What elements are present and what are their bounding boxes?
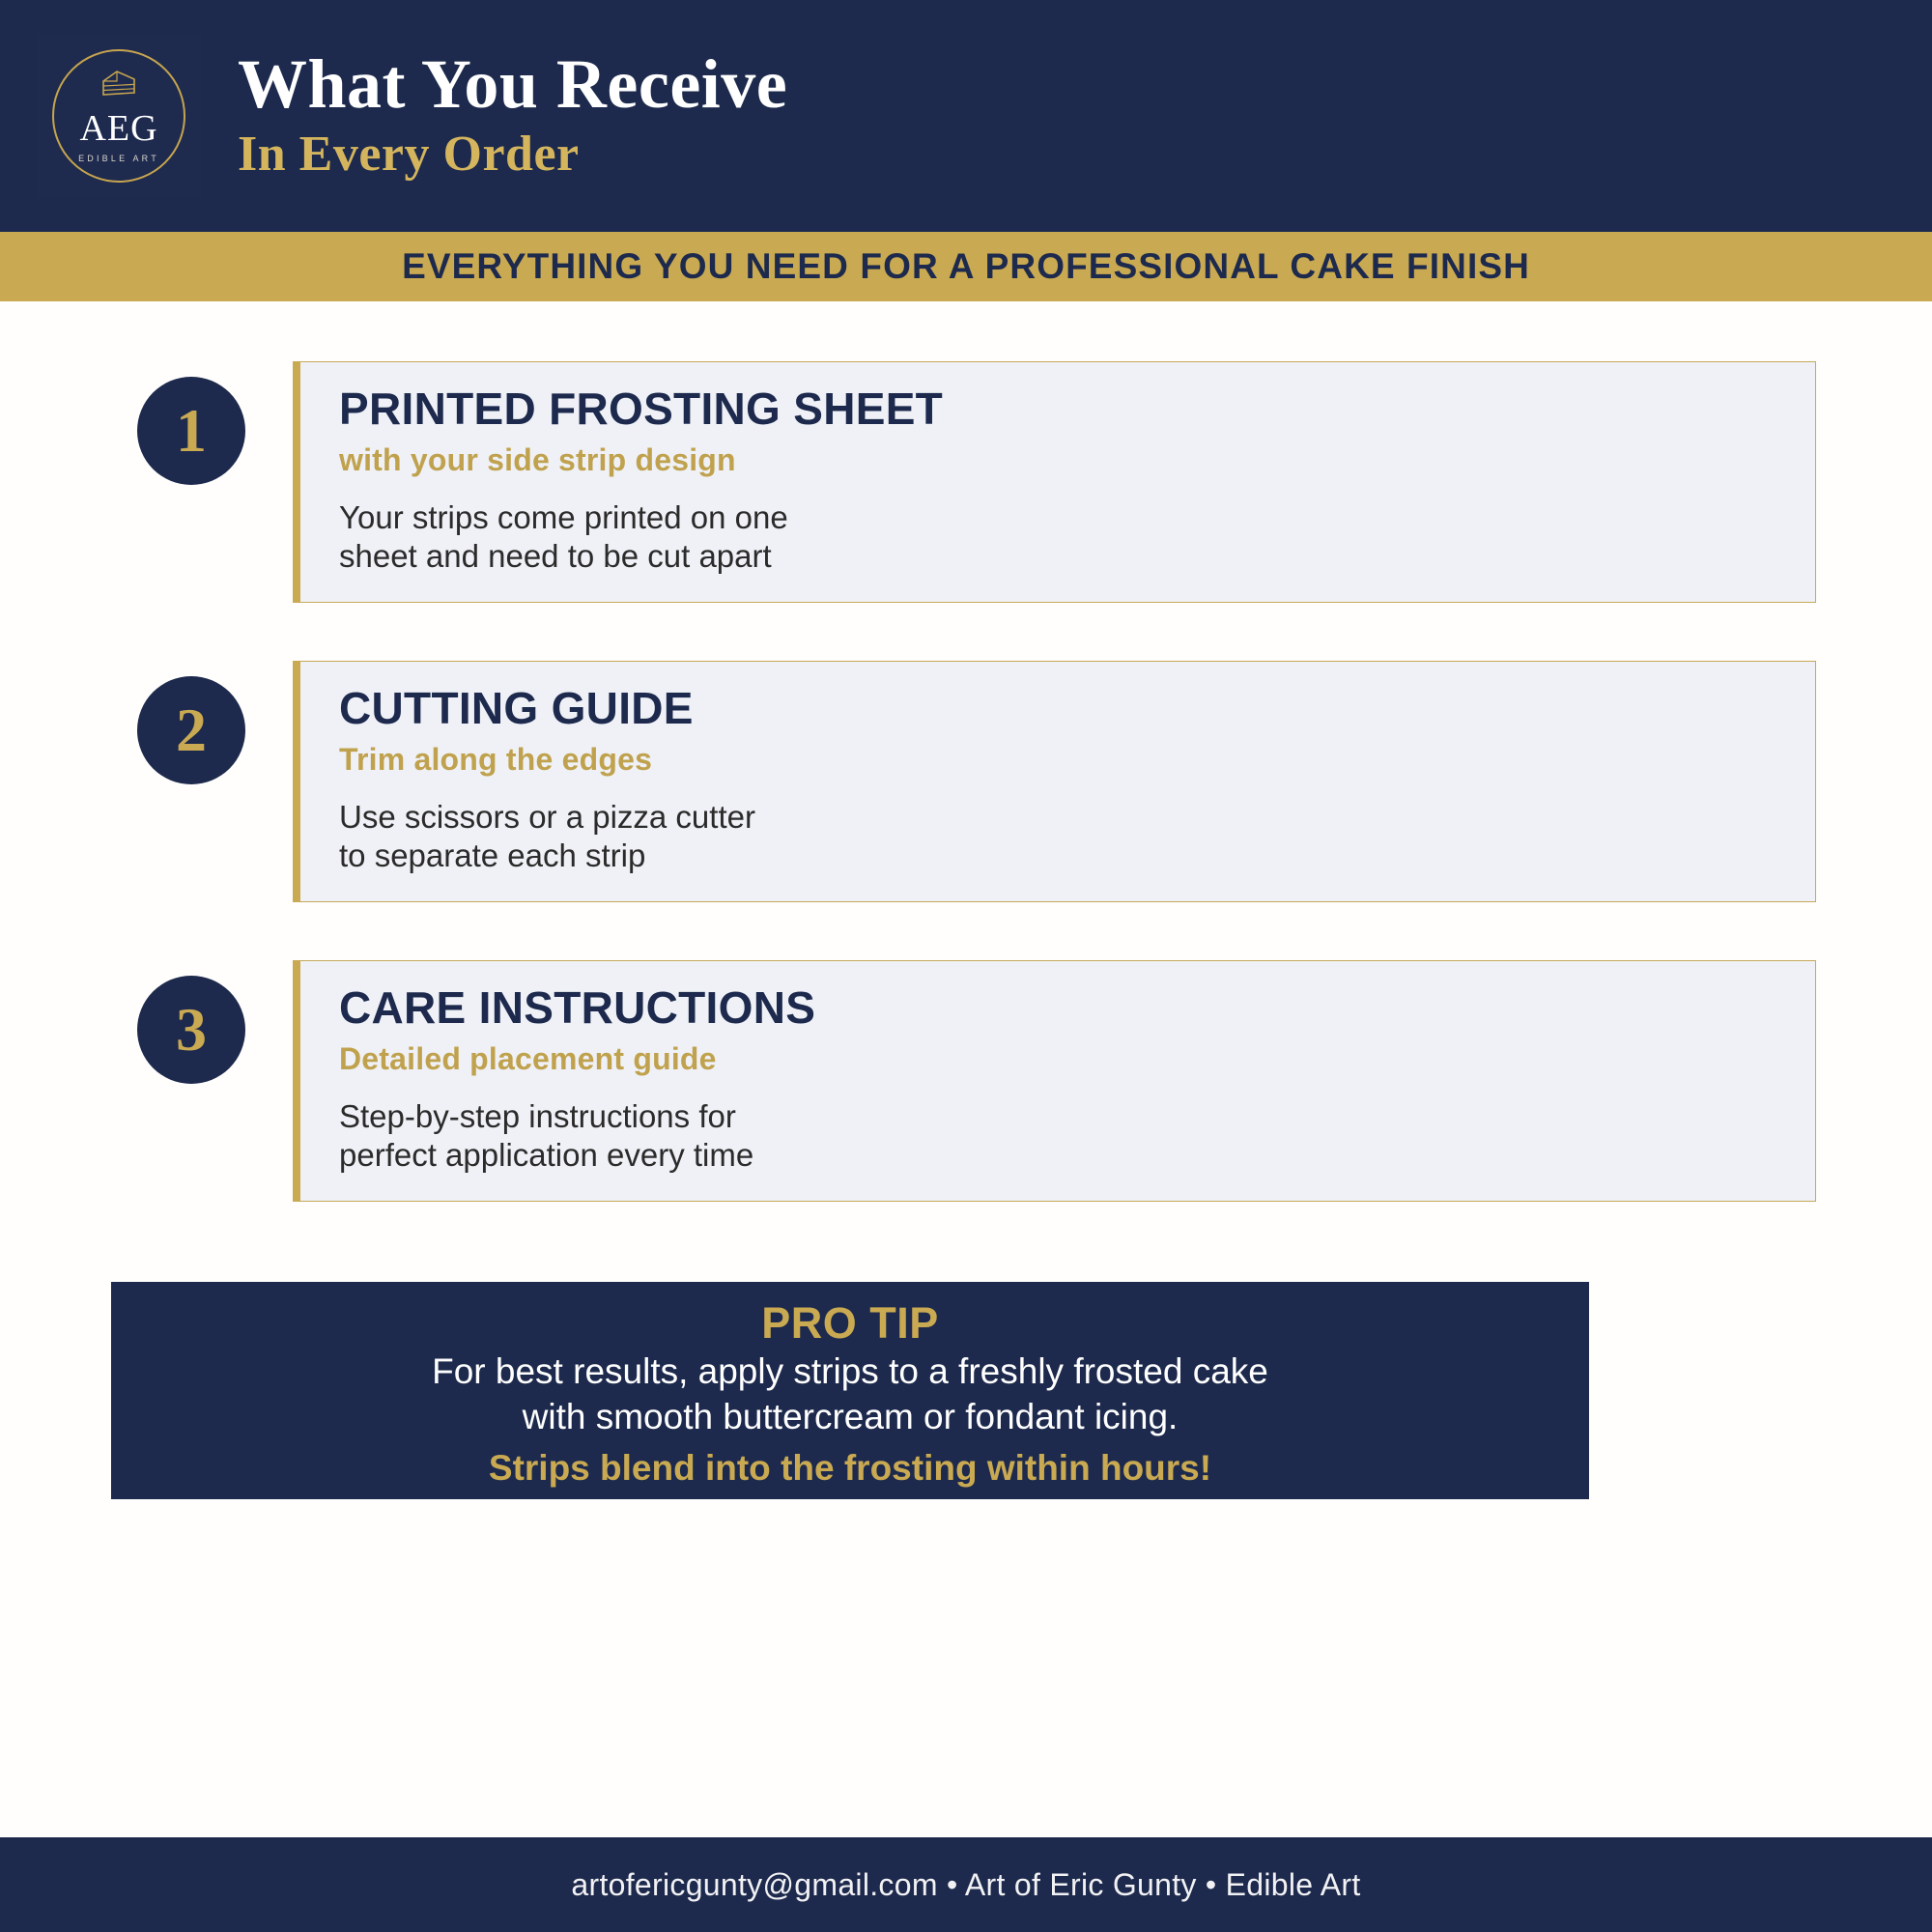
pro-tip-tagline: Strips blend into the frosting within ho…	[111, 1445, 1589, 1492]
cake-slice-icon	[98, 69, 140, 106]
header-title-group: What You Receive In Every Order	[238, 48, 787, 184]
pro-tip-line: For best results, apply strips to a fres…	[111, 1349, 1589, 1394]
step-body-line: Step-by-step instructions for	[339, 1097, 1815, 1136]
footer-contact-text: artofericgunty@gmail.com • Art of Eric G…	[571, 1867, 1360, 1903]
step-body-line: Use scissors or a pizza cutter	[339, 798, 1815, 837]
page-footer: artofericgunty@gmail.com • Art of Eric G…	[0, 1837, 1932, 1932]
step-body: Your strips come printed on one sheet an…	[339, 498, 1815, 577]
step-body-line: sheet and need to be cut apart	[339, 537, 1815, 576]
step-title: PRINTED FROSTING SHEET	[339, 385, 1815, 433]
step-card: PRINTED FROSTING SHEET with your side st…	[293, 361, 1816, 603]
step-number-badge: 3	[137, 976, 245, 1084]
step-title: CARE INSTRUCTIONS	[339, 984, 1815, 1032]
step-number: 3	[176, 999, 207, 1061]
page-subtitle: In Every Order	[238, 125, 787, 184]
logo-tagline: EDIBLE ART	[78, 154, 159, 163]
brand-logo: AEG EDIBLE ART	[37, 34, 201, 198]
step-body-line: perfect application every time	[339, 1136, 1815, 1175]
pro-tip-title: PRO TIP	[111, 1298, 1589, 1349]
step-item: 2 CUTTING GUIDE Trim along the edges Use…	[0, 647, 1932, 908]
step-body: Use scissors or a pizza cutter to separa…	[339, 798, 1815, 876]
step-card: CARE INSTRUCTIONS Detailed placement gui…	[293, 960, 1816, 1202]
step-number: 1	[176, 400, 207, 462]
tagline-banner-text: EVERYTHING YOU NEED FOR A PROFESSIONAL C…	[402, 246, 1530, 287]
page-title: What You Receive	[238, 48, 787, 121]
logo-ring: AEG EDIBLE ART	[52, 49, 185, 183]
pro-tip-box: PRO TIP For best results, apply strips t…	[111, 1282, 1589, 1499]
step-body-line: Your strips come printed on one	[339, 498, 1815, 537]
step-title: CUTTING GUIDE	[339, 685, 1815, 732]
infographic-page: AEG EDIBLE ART What You Receive In Every…	[0, 0, 1932, 1932]
step-body: Step-by-step instructions for perfect ap…	[339, 1097, 1815, 1176]
page-header: AEG EDIBLE ART What You Receive In Every…	[0, 0, 1932, 232]
logo-monogram: AEG	[79, 110, 157, 147]
tagline-banner: EVERYTHING YOU NEED FOR A PROFESSIONAL C…	[0, 232, 1932, 301]
step-subtitle: Detailed placement guide	[339, 1042, 1815, 1076]
pro-tip-line: with smooth buttercream or fondant icing…	[111, 1394, 1589, 1439]
step-subtitle: with your side strip design	[339, 443, 1815, 477]
step-item: 3 CARE INSTRUCTIONS Detailed placement g…	[0, 947, 1932, 1207]
steps-list: 1 PRINTED FROSTING SHEET with your side …	[0, 348, 1932, 1246]
step-subtitle: Trim along the edges	[339, 743, 1815, 777]
step-card: CUTTING GUIDE Trim along the edges Use s…	[293, 661, 1816, 902]
step-number-badge: 2	[137, 676, 245, 784]
step-number-badge: 1	[137, 377, 245, 485]
step-body-line: to separate each strip	[339, 837, 1815, 875]
step-number: 2	[176, 699, 207, 761]
step-item: 1 PRINTED FROSTING SHEET with your side …	[0, 348, 1932, 609]
